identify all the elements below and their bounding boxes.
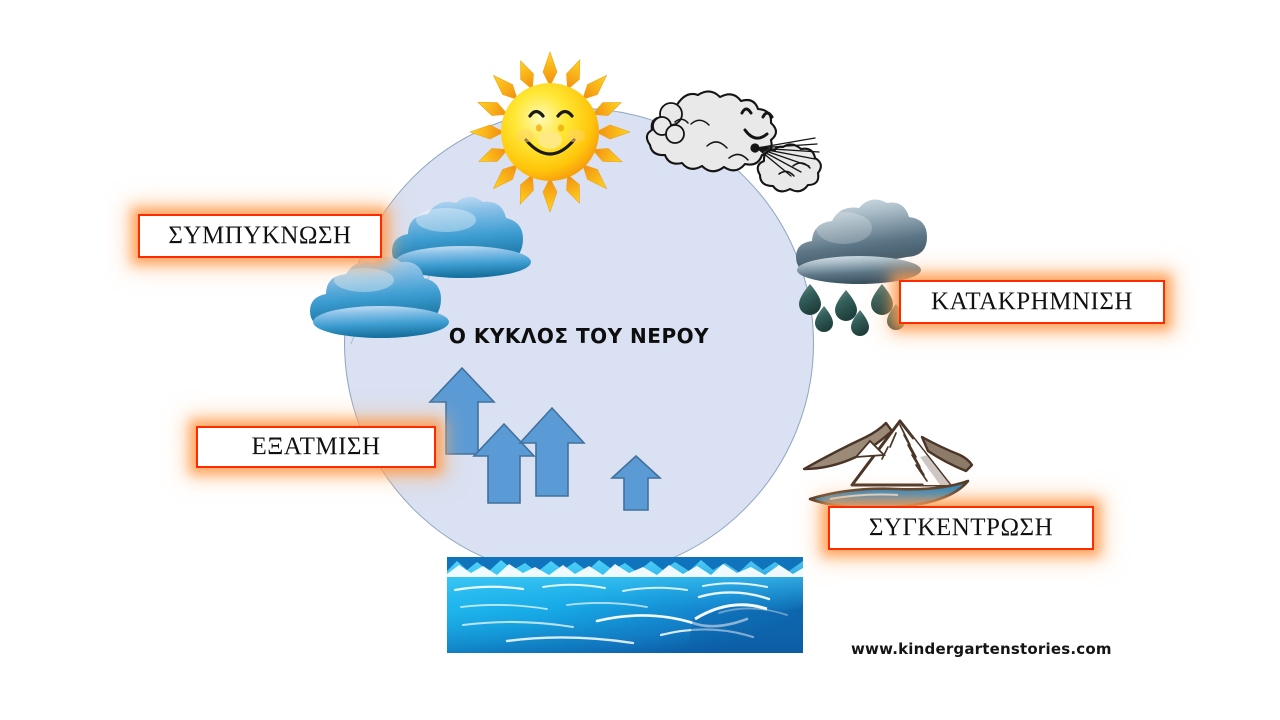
- sun-icon: [466, 48, 634, 216]
- label-collection[interactable]: ΣΥΓΚΕΝΤΡΩΣΗ: [828, 506, 1094, 550]
- wind-cloud-icon: [645, 62, 841, 214]
- page-title: Ο ΚΥΚΛΟΣ ΤΟΥ ΝΕΡΟΥ: [344, 324, 814, 348]
- watermark: www.kindergartenstories.com: [851, 640, 1112, 658]
- label-condensation-text: ΣΥΜΠΥΚΝΩΣΗ: [168, 222, 351, 250]
- label-collection-text: ΣΥΓΚΕΝΤΡΩΣΗ: [869, 514, 1053, 542]
- label-condensation[interactable]: ΣΥΜΠΥΚΝΩΣΗ: [138, 214, 382, 258]
- label-precipitation[interactable]: ΚΑΤΑΚΡΗΜΝΙΣΗ: [899, 280, 1165, 324]
- ocean-illustration: [447, 557, 803, 653]
- label-evaporation[interactable]: ΕΞΑΤΜΙΣΗ: [196, 426, 436, 468]
- label-precipitation-text: ΚΑΤΑΚΡΗΜΝΙΣΗ: [931, 288, 1133, 316]
- water-cycle-diagram: Ο ΚΥΚΛΟΣ ΤΟΥ ΝΕΡΟΥ ΣΥΜΠΥΚΝΩΣΗ ΚΑΤΑΚΡΗΜΝΙ…: [0, 0, 1280, 720]
- mountain-icon: [800, 403, 976, 515]
- evaporation-arrows: [424, 358, 674, 540]
- label-evaporation-text: ΕΞΑΤΜΙΣΗ: [251, 433, 380, 461]
